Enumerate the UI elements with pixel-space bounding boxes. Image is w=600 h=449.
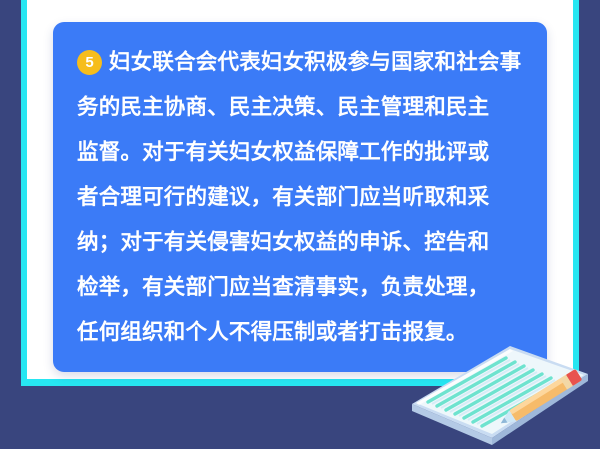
- text-line: 务的民主协商、民主决策、民主管理和民主: [77, 85, 523, 130]
- card-body: 5 妇女联合会代表妇女积极参与国家和社会事 务的民主协商、民主决策、民主管理和民…: [77, 40, 523, 355]
- slide-canvas: 5 妇女联合会代表妇女积极参与国家和社会事 务的民主协商、民主决策、民主管理和民…: [0, 0, 600, 449]
- content-card: 5 妇女联合会代表妇女积极参与国家和社会事 务的民主协商、民主决策、民主管理和民…: [53, 22, 547, 372]
- text-line: 纳；对于有关侵害妇女权益的申诉、控告和: [77, 220, 523, 265]
- text-line: 监督。对于有关妇女权益保障工作的批评或: [77, 130, 523, 175]
- item-number-badge: 5: [77, 50, 102, 75]
- text-line: 妇女联合会代表妇女积极参与国家和社会事: [77, 40, 523, 85]
- text-line: 者合理可行的建议，有关部门应当听取和采: [77, 175, 523, 220]
- text-line: 任何组织和个人不得压制或者打击报复。: [77, 310, 523, 355]
- text-line: 检举，有关部门应当查清事实，负责处理，: [77, 265, 523, 310]
